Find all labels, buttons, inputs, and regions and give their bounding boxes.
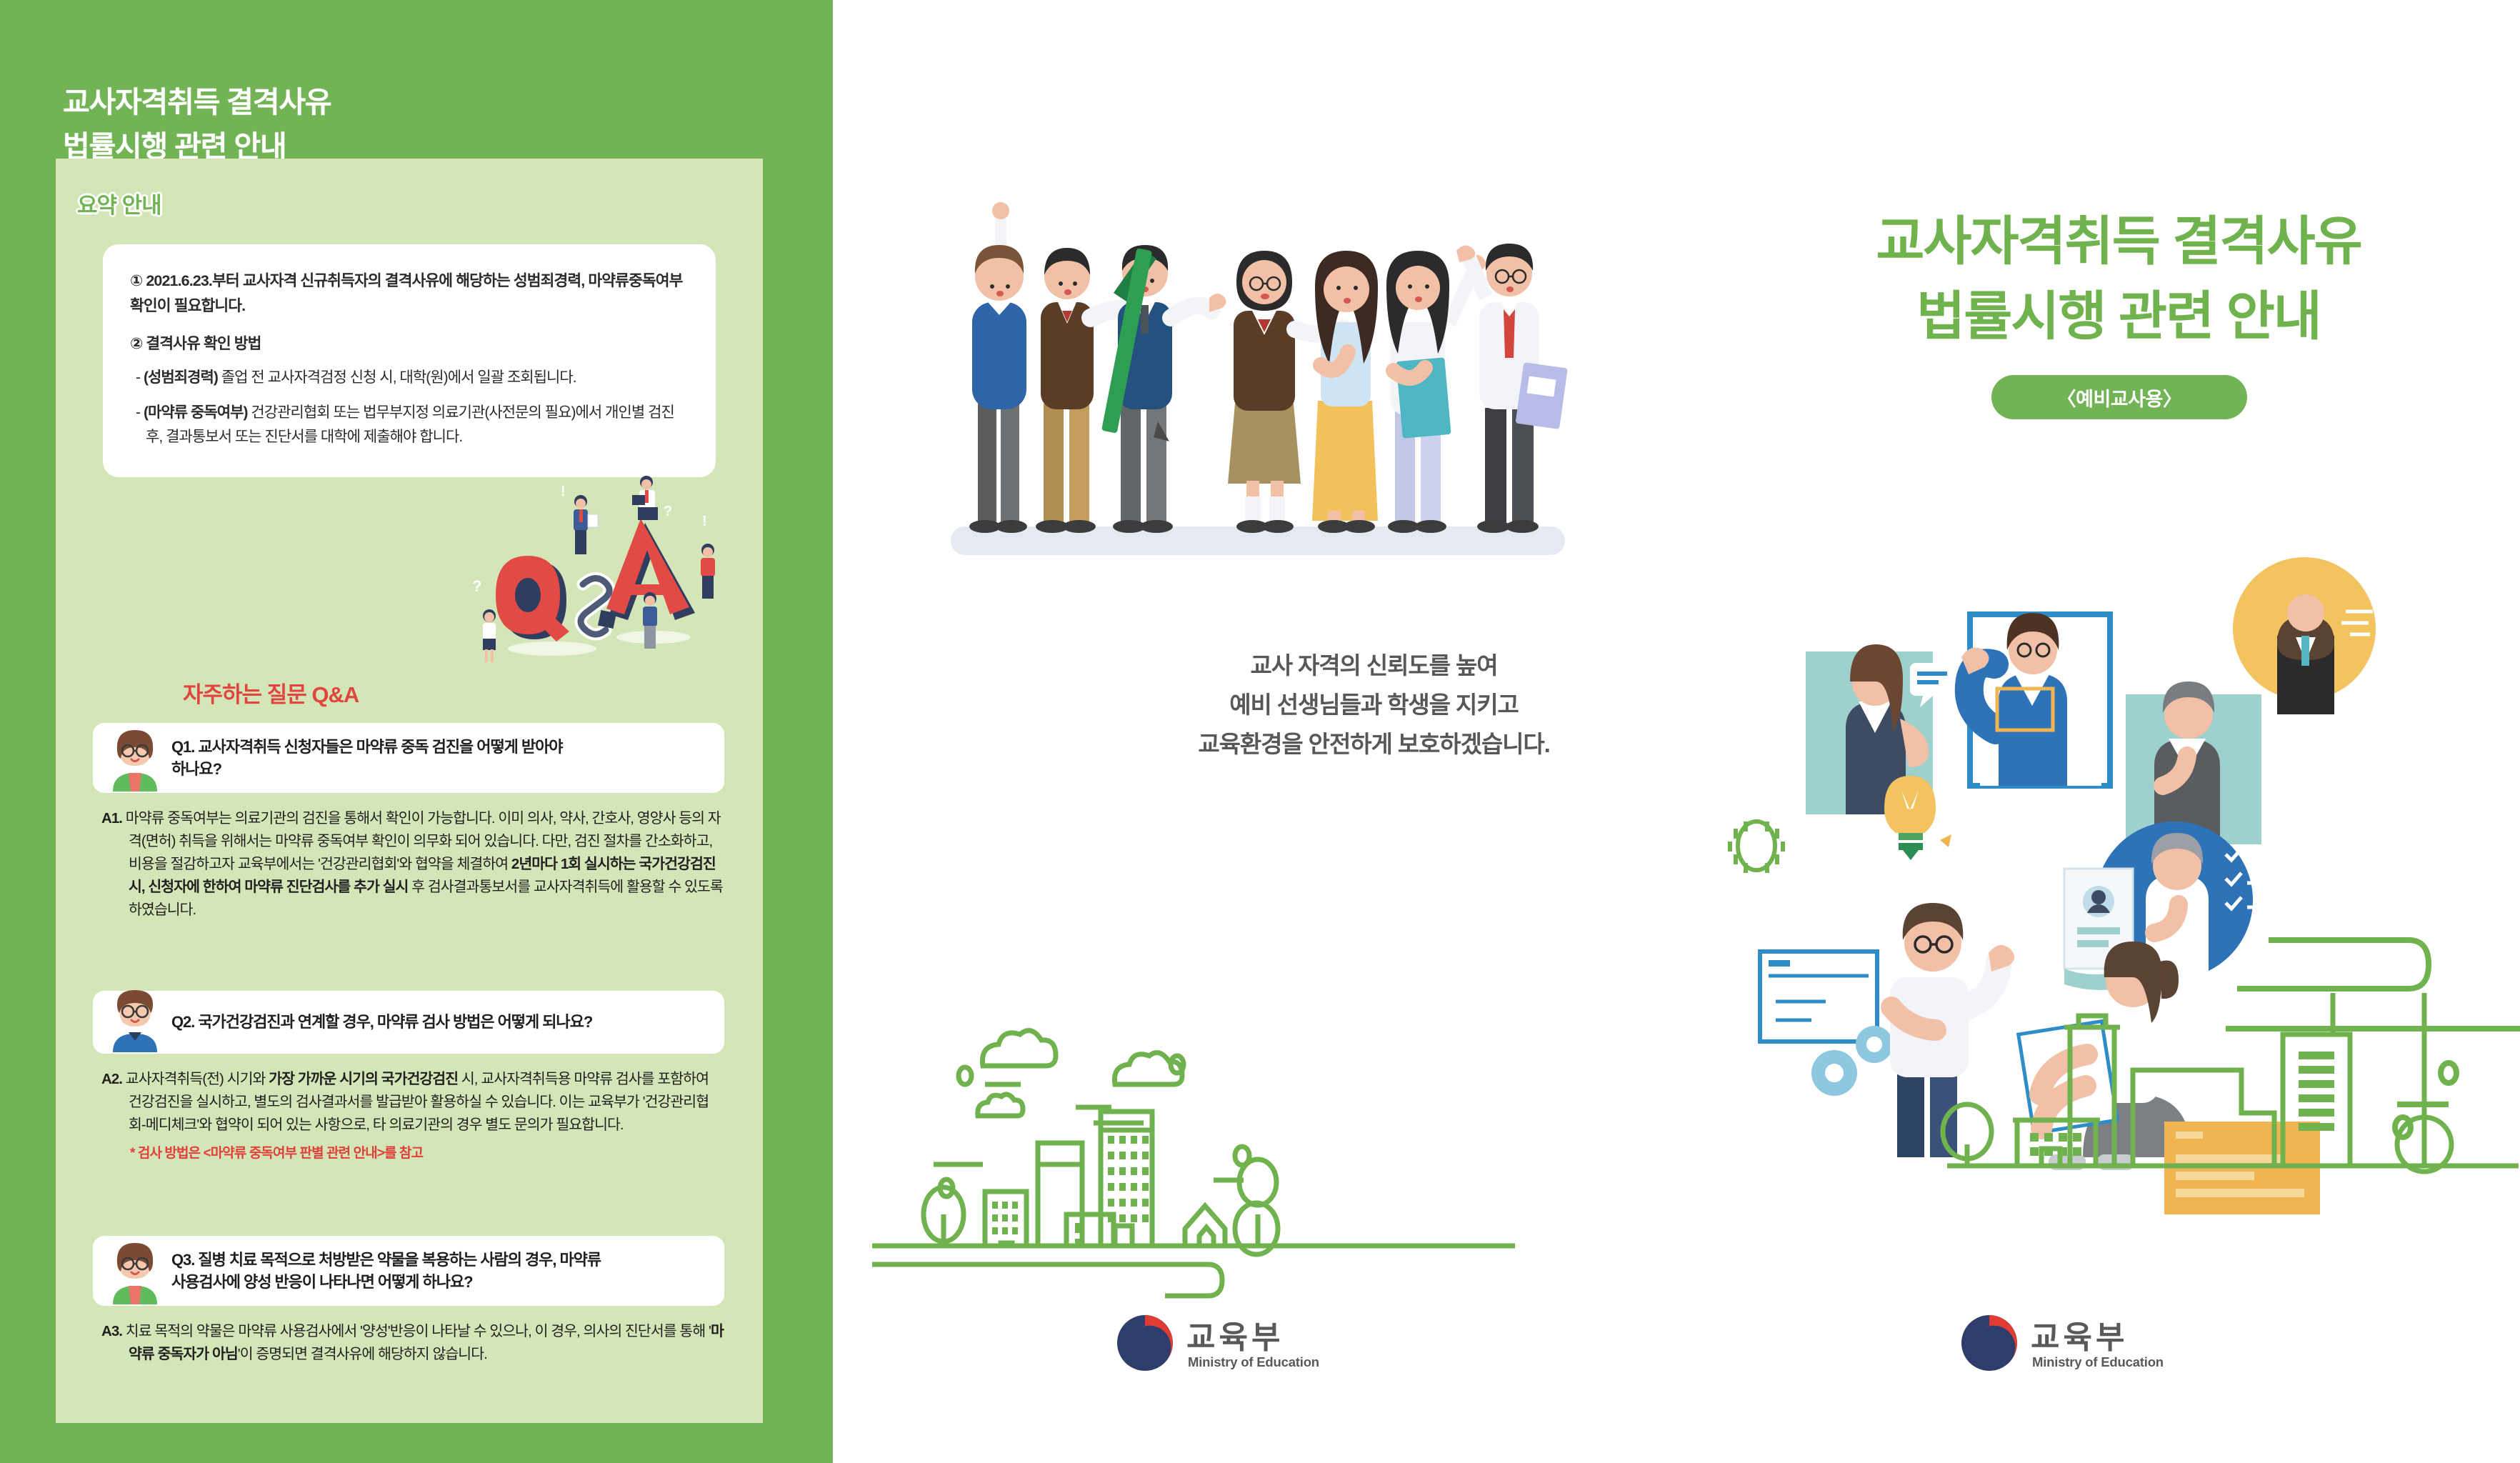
right-page: 교사자격취득 결격사유 법률시행 관련 안내 〈예비교사용〉 교사 자격의 신뢰… — [833, 0, 2520, 1463]
hero-title: 교사자격취득 결격사유 법률시행 관련 안내 — [1761, 204, 2476, 354]
summary-item-1: ① 2021.6.23.부터 교사자격 신규취득자의 결격사유에 해당하는 성범… — [130, 269, 689, 319]
question-text-1: Q1. 교사자격취득 신청자들은 마약류 중독 검진을 어떻게 받아야 하나요? — [171, 736, 563, 780]
summary-item-2: ② 결격사유 확인 방법 — [130, 331, 689, 356]
brochure-page: 교사자격취득 결격사유 법률시행 관련 안내 요약 안내 ① 2021.6.23… — [0, 0, 2520, 1463]
summary-sub-1-label: (성범죄경력) — [144, 369, 218, 386]
ministry-of-education-logo: 교육부 Ministry of Education — [1959, 1307, 2195, 1382]
qa-section-heading: 자주하는 질문 Q&A — [183, 676, 359, 709]
logo-english-text: Ministry of Education — [2032, 1354, 2164, 1370]
answer-prefix-2: A2. — [101, 1071, 122, 1087]
qa-item-2: Q2. 국가건강검진과 연계할 경우, 마약류 검사 방법은 어떻게 되나요? … — [93, 991, 724, 1162]
video-tile-teal-left — [1806, 644, 1960, 814]
answer-prefix-3: A3. — [101, 1323, 122, 1339]
man-glasses-blue-sweater-avatar-icon — [104, 988, 166, 1054]
video-tile-blue-frame — [1961, 613, 2110, 786]
left-inner-panel: 요약 안내 ① 2021.6.23.부터 교사자격 신규취득자의 결격사유에 해… — [56, 159, 763, 1423]
answer-text-3: A3. 치료 목적의 약물은 마약류 사용검사에서 '양성'반응이 나타날 수 … — [93, 1320, 724, 1366]
question-bubble-2: Q2. 국가건강검진과 연계할 경우, 마약류 검사 방법은 어떻게 되나요? — [93, 991, 724, 1054]
qa-letters-illustration: ? ? ! ! — [466, 479, 745, 671]
answer-prefix-1: A1. — [101, 810, 122, 827]
taegeuk-logo-icon — [1115, 1313, 1175, 1373]
taegeuk-logo-icon — [1959, 1313, 2019, 1373]
question-text-3: Q3. 질병 치료 목적으로 처방받은 약물을 복용하는 사람의 경우, 마약류… — [171, 1249, 601, 1293]
left-panel: 교사자격취득 결격사유 법률시행 관련 안내 요약 안내 ① 2021.6.23… — [0, 0, 833, 1463]
logo-korean-text: 교육부 — [2031, 1312, 2128, 1357]
summary-sub-2-dash: - — [136, 404, 140, 421]
letter-q-icon — [496, 556, 569, 641]
answer-text-1: A1. 마약류 중독여부는 의료기관의 검진을 통해서 확인이 가능합니다. 이… — [93, 807, 724, 922]
summary-card: ① 2021.6.23.부터 교사자격 신규취득자의 결격사유에 해당하는 성범… — [103, 244, 716, 477]
summary-sub-1-text: 졸업 전 교사자격검정 신청 시, 대학(원)에서 일괄 조회됩니다. — [218, 369, 576, 386]
tagline-text: 교사 자격의 신뢰도를 높여 예비 선생님들과 학생을 지키고 교육환경을 안전… — [1051, 646, 1697, 764]
qa-item-3: Q3. 질병 치료 목적으로 처방받은 약물을 복용하는 사람의 경우, 마약류… — [93, 1236, 724, 1366]
summary-label-text: 요약 안내 — [77, 193, 161, 218]
woman-glasses-green-jacket-avatar-icon — [104, 727, 166, 793]
qa-item-1: Q1. 교사자격취득 신청자들은 마약류 중독 검진을 어떻게 받아야 하나요?… — [93, 723, 724, 922]
group-of-teachers-and-students-illustration — [944, 196, 1572, 575]
svg-text:?: ? — [472, 577, 481, 595]
left-panel-title: 교사자격취득 결격사유 법률시행 관련 안내 — [63, 80, 777, 169]
online-video-meeting-illustration — [1726, 543, 2520, 1057]
summary-sub-1: - (성범죄경력) 졸업 전 교사자격검정 신청 시, 대학(원)에서 일괄 조… — [130, 366, 689, 390]
summary-sub-2: - (마약류 중독여부) 건강관리협회 또는 법무부지정 의료기관(사전문의 필… — [130, 401, 689, 450]
answer-part1-2: 교사자격취득(전) 시기와 — [122, 1071, 269, 1087]
hero-badge: 〈예비교사용〉 — [1991, 375, 2247, 419]
question-bubble-1: Q1. 교사자격취득 신청자들은 마약류 중독 검진을 어떻게 받아야 하나요? — [93, 723, 724, 793]
svg-text:?: ? — [664, 504, 672, 519]
ministry-of-education-logo: 교육부 Ministry of Education — [1115, 1307, 1351, 1382]
woman-glasses-green-jacket-avatar-icon — [104, 1240, 166, 1306]
video-tile-gray — [2126, 681, 2261, 844]
question-text-2: Q2. 국가건강검진과 연계할 경우, 마약류 검사 방법은 어떻게 되나요? — [171, 1011, 592, 1033]
person-teal-folder — [1386, 251, 1486, 533]
svg-text:!: ! — [702, 514, 707, 529]
answer-bold-2: 가장 가까운 시기의 국가건강검진 — [269, 1071, 458, 1087]
summary-sub-1-dash: - — [136, 369, 140, 386]
logo-korean-text: 교육부 — [1186, 1312, 1284, 1357]
summary-sub-2-label: (마약류 중독여부) — [144, 404, 248, 421]
green-line-cityscape-right-illustration — [1947, 993, 2519, 1200]
person-yellow-skirt — [1312, 251, 1378, 533]
answer-part1-3: 치료 목적의 약물은 마약류 사용검사에서 '양성'반응이 나타날 수 있으나,… — [122, 1323, 711, 1339]
svg-text:!: ! — [561, 484, 566, 499]
answer-note-2: * 검사 방법은 <마약류 중독여부 판별 관련 안내>를 참고 — [93, 1142, 724, 1162]
question-bubble-3: Q3. 질병 치료 목적으로 처방받은 약물을 복용하는 사람의 경우, 마약류… — [93, 1236, 724, 1306]
person-with-pencil — [1101, 245, 1226, 533]
logo-english-text: Ministry of Education — [1188, 1354, 1319, 1370]
green-sunburst-icon — [1730, 822, 1783, 873]
green-line-cityscape-illustration — [872, 929, 1515, 1229]
document-card-blue — [1760, 952, 1877, 1042]
summary-label: 요약 안내 — [77, 187, 161, 219]
person-blue-sweater — [969, 202, 1027, 533]
answer-text-2: A2. 교사자격취득(전) 시기와 가장 가까운 시기의 국가건강검진 시, 교… — [93, 1068, 724, 1137]
lightbulb-icon — [1884, 776, 1951, 860]
answer-part2-3: '이 증명되면 결격사유에 해당하지 않습니다. — [238, 1346, 487, 1362]
